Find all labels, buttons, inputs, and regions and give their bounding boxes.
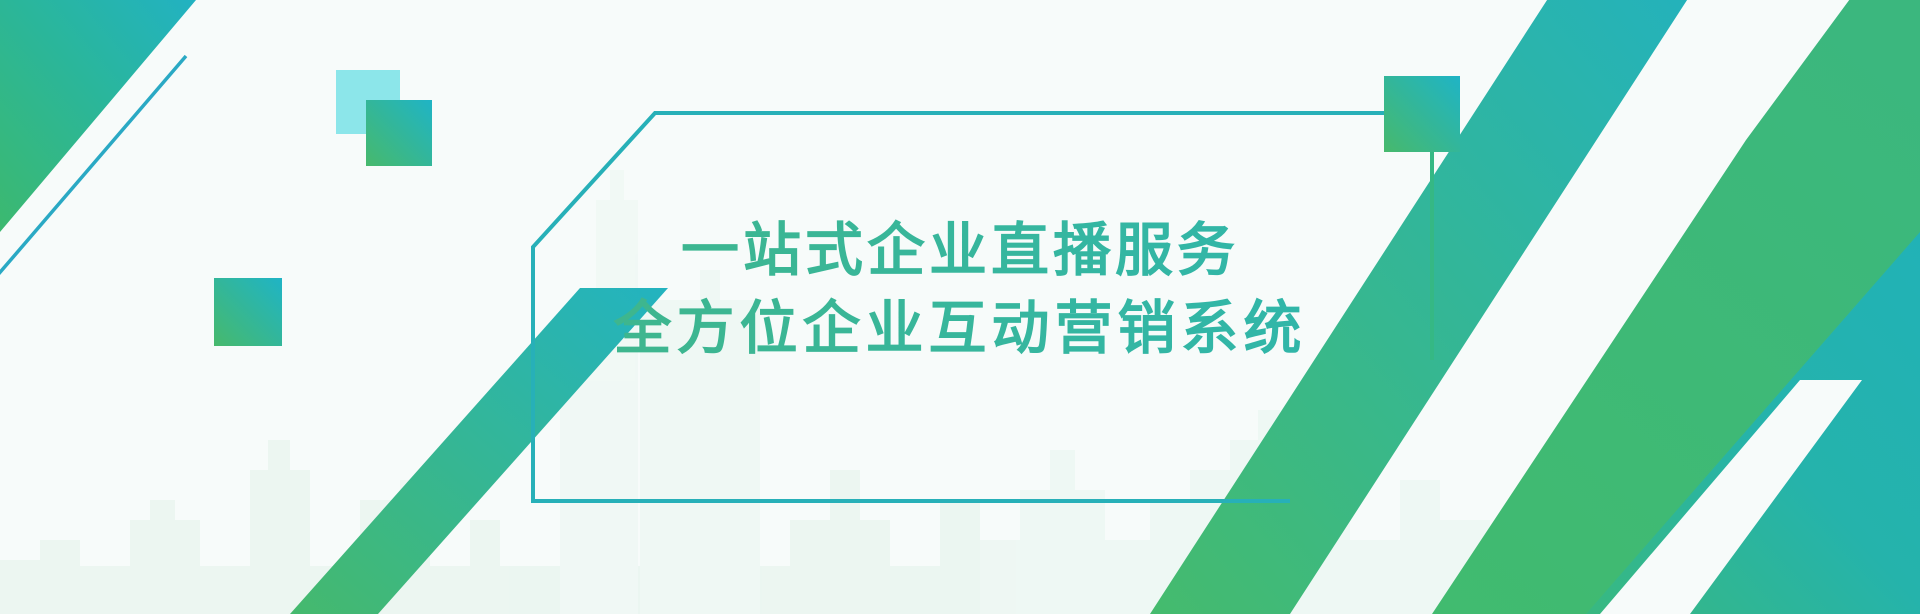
promo-banner: 一站式企业直播服务 全方位企业互动营销系统 xyxy=(0,0,1920,614)
decor-square-gradient-mid xyxy=(214,278,282,346)
decor-square-gradient-corner xyxy=(1384,76,1460,152)
banner-artwork xyxy=(0,0,1920,614)
decor-square-gradient-top xyxy=(366,100,432,166)
